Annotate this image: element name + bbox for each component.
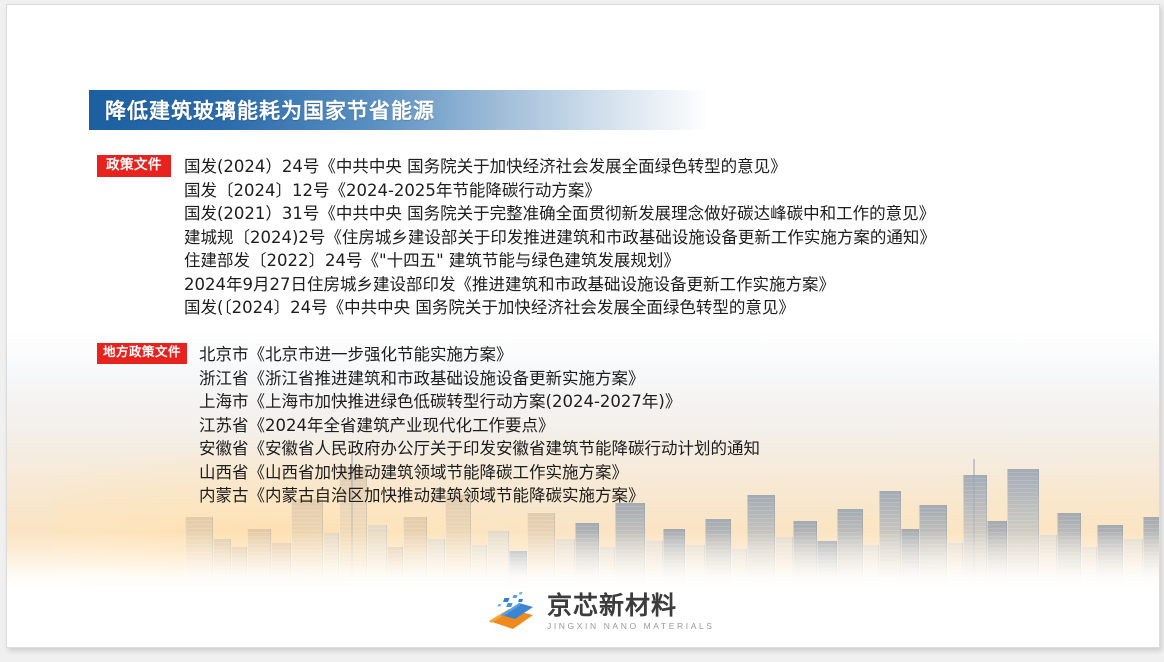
sun-glow-right bbox=[744, 471, 1159, 591]
slide-title-bar: 降低建筑玻璃能耗为国家节省能源 bbox=[89, 90, 709, 130]
section-national-policy: 政策文件 国发(2024）24号《中共中央 国务院关于加快经济社会发展全面绿色转… bbox=[97, 155, 936, 320]
horizon-haze bbox=[7, 531, 1159, 591]
list-item: 浙江省《浙江省推进建筑和市政基础设施设备更新实施方案》 bbox=[199, 367, 760, 391]
local-policy-list: 北京市《北京市进一步强化节能实施方案》 浙江省《浙江省推进建筑和市政基础设施设备… bbox=[199, 343, 760, 508]
national-policy-tag: 政策文件 bbox=[97, 155, 171, 177]
page-title: 降低建筑玻璃能耗为国家节省能源 bbox=[89, 95, 435, 125]
national-policy-list: 国发(2024）24号《中共中央 国务院关于加快经济社会发展全面绿色转型的意见》… bbox=[184, 155, 936, 320]
list-item: 住建部发〔2022〕24号《"十四五" 建筑节能与绿色建筑发展规划》 bbox=[184, 249, 936, 273]
logo-text-block: 京芯新材料 JINGXIN NANO MATERIALS bbox=[547, 593, 715, 631]
section-local-policy: 地方政策文件 北京市《北京市进一步强化节能实施方案》 浙江省《浙江省推进建筑和市… bbox=[97, 343, 760, 508]
list-item: 江苏省《2024年全省建筑产业现代化工作要点》 bbox=[199, 414, 760, 438]
presentation-slide: 降低建筑玻璃能耗为国家节省能源 政策文件 国发(2024）24号《中共中央 国务… bbox=[6, 4, 1160, 648]
list-item: 国发(〔2024〕24号《中共中央 国务院关于加快经济社会发展全面绿色转型的意见… bbox=[184, 296, 936, 320]
list-item: 内蒙古《内蒙古自治区加快推动建筑领域节能降碳实施方案》 bbox=[199, 484, 760, 508]
list-item: 山西省《山西省加快推动建筑领域节能降碳工作实施方案》 bbox=[199, 461, 760, 485]
list-item: 国发(2021）31号《中共中央 国务院关于完整准确全面贯彻新发展理念做好碳达峰… bbox=[184, 202, 936, 226]
company-logo: 京芯新材料 JINGXIN NANO MATERIALS bbox=[485, 591, 715, 633]
list-item: 国发(2024）24号《中共中央 国务院关于加快经济社会发展全面绿色转型的意见》 bbox=[184, 155, 936, 179]
logo-name-en: JINGXIN NANO MATERIALS bbox=[547, 621, 715, 631]
list-item: 安徽省《安徽省人民政府办公厅关于印发安徽省建筑节能降碳行动计划的通知 bbox=[199, 437, 760, 461]
logo-name-cn: 京芯新材料 bbox=[547, 593, 715, 619]
list-item: 上海市《上海市加快推进绿色低碳转型行动方案(2024-2027年)》 bbox=[199, 390, 760, 414]
list-item: 国发〔2024〕12号《2024-2025年节能降碳行动方案》 bbox=[184, 179, 936, 203]
local-policy-tag: 地方政策文件 bbox=[97, 343, 187, 364]
list-item: 2024年9月27日住房城乡建设部印发《推进建筑和市政基础设施设备更新工作实施方… bbox=[184, 273, 936, 297]
list-item: 北京市《北京市进一步强化节能实施方案》 bbox=[199, 343, 760, 367]
list-item: 建城规〔2024)2号《住房城乡建设部关于印发推进建筑和市政基础设施设备更新工作… bbox=[184, 226, 936, 250]
jingxin-logo-mark-icon bbox=[485, 591, 537, 633]
